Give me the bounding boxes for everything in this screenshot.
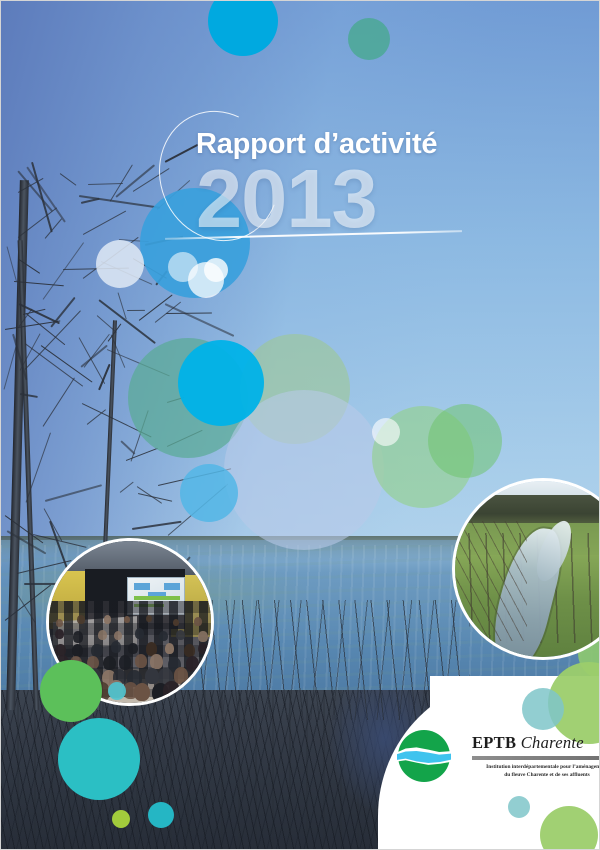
report-cover: Rapport d’activité 2013 [0, 0, 600, 850]
audience-head [134, 683, 150, 701]
audience-head [98, 630, 107, 640]
logo-subtitle-line2: du fleuve Charente et de ses affluents [472, 771, 600, 779]
eptb-logo: EPTB Charente Institution interdéparteme… [398, 730, 600, 782]
audience-head [55, 629, 64, 639]
tree-branch [127, 310, 145, 311]
logo-name-acronym: EPTB [472, 733, 516, 752]
audience-head [73, 631, 83, 642]
audience-head [176, 630, 184, 640]
tree-branch [43, 508, 62, 541]
bubble-teal-bottom [148, 802, 174, 828]
tree-branch [88, 183, 123, 185]
audience-head [165, 643, 175, 654]
audience-head [128, 643, 138, 654]
audience-head [77, 615, 85, 624]
audience-head [189, 683, 204, 701]
bubble-teal-panel [522, 688, 564, 730]
tree-branch [25, 344, 84, 388]
tree-branch [43, 243, 84, 300]
bubble-white-tiny-c [204, 258, 228, 282]
tree-branch [120, 482, 134, 493]
tree-branch [79, 195, 161, 209]
tree-branch [60, 173, 77, 186]
tree-branch [82, 210, 125, 234]
tree-branch [50, 297, 75, 328]
logo-name-river: Charente [521, 733, 584, 752]
foreground-reeds [190, 600, 470, 720]
tree-branch [45, 484, 102, 502]
bubble-green-solid [40, 660, 102, 722]
audience-head [135, 654, 147, 668]
audience-head [104, 615, 112, 624]
audience-head [198, 643, 208, 654]
bubble-lime-tiny [112, 810, 130, 828]
bubble-teal-small-top [348, 18, 390, 60]
logo-divider [472, 756, 600, 760]
audience-head [145, 668, 159, 684]
bubble-cyan-strong [178, 340, 264, 426]
tree-branch [120, 440, 135, 454]
audience-head [198, 631, 207, 642]
tree-branch [7, 246, 17, 281]
stream-pasture-photo [452, 478, 600, 660]
logo-subtitle-line1: Institution interdépartementale pour l’a… [472, 763, 600, 771]
report-year: 2013 [196, 161, 576, 237]
bubble-teal-panel-b [508, 796, 530, 818]
bubble-green-trans-b [428, 404, 502, 478]
audience-head [111, 641, 121, 653]
cover-title-block: Rapport d’activité 2013 [196, 130, 576, 237]
bubble-white-small [96, 240, 144, 288]
audience-head [119, 655, 132, 670]
audience-head [135, 628, 144, 638]
audience-head [72, 644, 83, 657]
tree-branch [139, 295, 173, 322]
audience-head [103, 656, 116, 671]
bubble-white-faint [372, 418, 400, 446]
audience-head [163, 681, 179, 700]
green-circle-water-wave-icon [398, 730, 450, 782]
audience-head [173, 619, 179, 626]
audience-head [194, 617, 202, 626]
bubble-teal-solid-big [58, 718, 140, 800]
audience-head [56, 619, 63, 628]
audience-head [150, 654, 163, 669]
logo-subtitle: Institution interdépartementale pour l’a… [472, 763, 600, 779]
bubble-sky-mid [180, 464, 238, 522]
logo-title: EPTB Charente [472, 733, 600, 753]
audience-head [159, 631, 168, 641]
tree-branch [42, 378, 74, 427]
bubble-teal-tiny [108, 682, 126, 700]
audience-head [184, 644, 195, 657]
